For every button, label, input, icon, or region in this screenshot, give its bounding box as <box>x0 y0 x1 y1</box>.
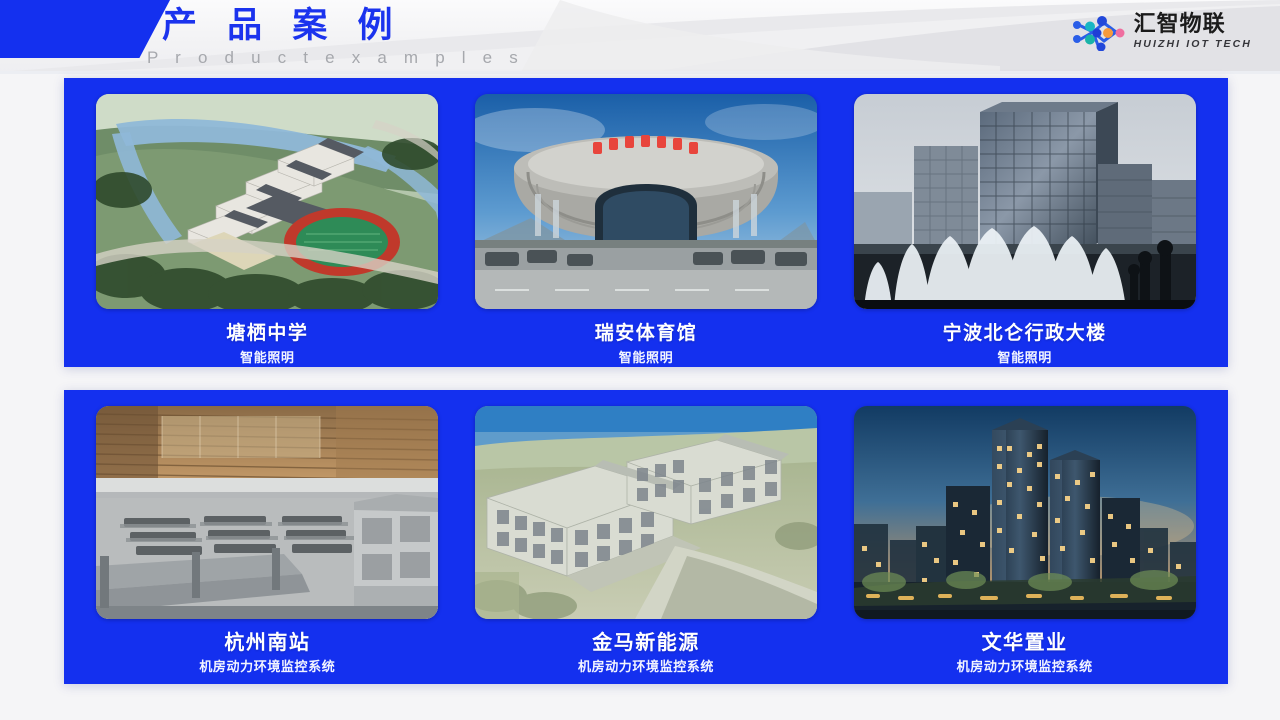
case-card-subtitle: 机房动力环境监控系统 <box>578 659 714 676</box>
case-card-title: 金马新能源 <box>592 630 700 654</box>
brand-name-cn: 汇智物联 <box>1134 13 1226 37</box>
hangzhou-south-railway-station-photo <box>96 406 438 619</box>
ningbo-beilun-admin-tower-photo <box>854 94 1196 309</box>
page-title: 产 品 案 例 <box>162 4 402 48</box>
case-card-ruian-stadium[interactable]: 瑞安体育馆 智能照明 <box>457 94 836 367</box>
case-card-jinma-new-energy[interactable]: 金马新能源 机房动力环境监控系统 <box>457 406 836 684</box>
case-card-title: 瑞安体育馆 <box>595 321 698 345</box>
wenhua-real-estate-towers-photo <box>854 406 1196 619</box>
case-card-wenhua-real-estate[interactable]: 文华置业 机房动力环境监控系统 <box>835 406 1214 684</box>
case-panel-bottom: 杭州南站 机房动力环境监控系统 <box>64 390 1228 684</box>
case-card-subtitle: 智能照明 <box>619 350 673 367</box>
case-card-hangzhou-south-station[interactable]: 杭州南站 机房动力环境监控系统 <box>78 406 457 684</box>
case-card-ningbo-beilun-admin[interactable]: 宁波北仑行政大楼 智能照明 <box>835 94 1214 367</box>
case-card-tangqi-middle-school[interactable]: 塘栖中学 智能照明 <box>78 94 457 367</box>
molecule-network-icon <box>1071 13 1127 51</box>
slide-root: 产 品 案 例 P r o d u c t e x a m p l e s <box>0 0 1280 720</box>
case-card-subtitle: 机房动力环境监控系统 <box>957 659 1093 676</box>
slide-header: 产 品 案 例 P r o d u c t e x a m p l e s <box>0 0 1280 74</box>
case-panel-top: 塘栖中学 智能照明 <box>64 78 1228 367</box>
case-card-title: 杭州南站 <box>224 630 310 654</box>
case-card-row-bottom: 杭州南站 机房动力环境监控系统 <box>64 390 1228 684</box>
header-divider <box>0 71 1280 74</box>
brand-name-en: HUIZHI IOT TECH <box>1134 37 1252 51</box>
case-card-title: 塘栖中学 <box>226 321 308 345</box>
ruian-stadium-exterior-photo <box>475 94 817 309</box>
case-card-subtitle: 机房动力环境监控系统 <box>199 659 335 676</box>
brand-logo: 汇智物联 HUIZHI IOT TECH <box>1071 13 1252 51</box>
case-card-subtitle: 智能照明 <box>240 350 294 367</box>
case-card-title: 文华置业 <box>982 630 1068 654</box>
case-card-subtitle: 智能照明 <box>997 350 1051 367</box>
case-card-title: 宁波北仑行政大楼 <box>943 321 1107 345</box>
brand-logo-text: 汇智物联 HUIZHI IOT TECH <box>1134 13 1252 51</box>
aerial-view-school-campus-photo <box>96 94 438 309</box>
case-card-row-top: 塘栖中学 智能照明 <box>64 78 1228 367</box>
page-subtitle: P r o d u c t e x a m p l e s <box>147 48 524 68</box>
jinma-new-energy-factory-photo <box>475 406 817 619</box>
